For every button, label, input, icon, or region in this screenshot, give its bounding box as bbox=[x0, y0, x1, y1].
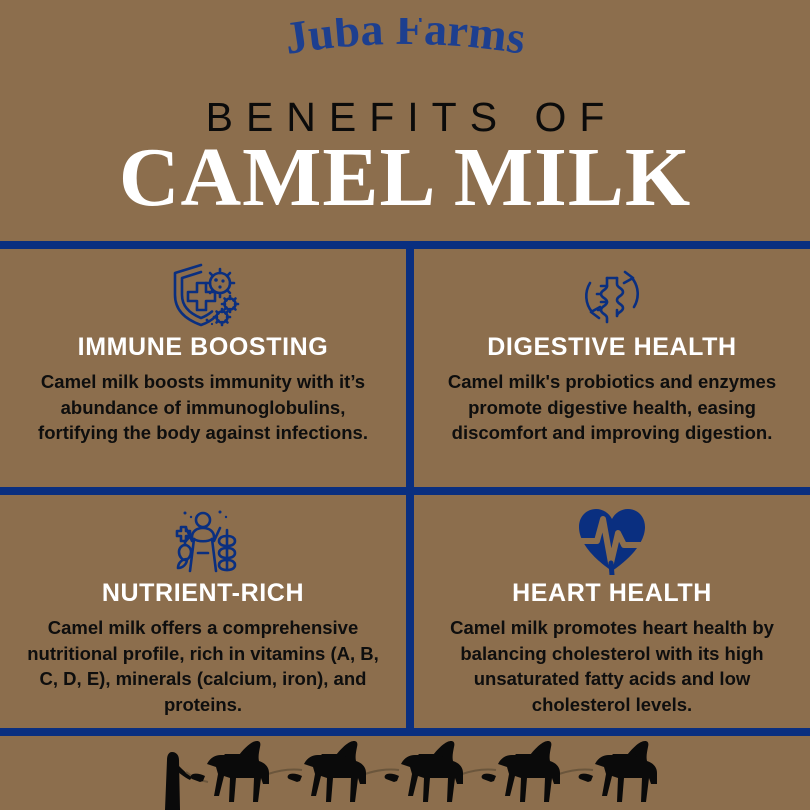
person-nutrition-icon bbox=[165, 505, 241, 577]
benefit-card-nutrient-rich: NUTRIENT-RICH Camel milk offers a compre… bbox=[0, 495, 406, 728]
heart-pulse-icon-svg bbox=[577, 507, 647, 575]
divider-vertical-2 bbox=[406, 487, 414, 736]
caravan-leader bbox=[165, 752, 192, 810]
benefit-description: Camel milk offers a comprehensive nutrit… bbox=[23, 615, 383, 717]
infographic-poster: Juba Farms BENEFITS OF CAMEL MILK bbox=[0, 0, 810, 810]
camel-3 bbox=[385, 741, 463, 802]
heart-pulse-icon bbox=[577, 505, 647, 577]
divider-top bbox=[0, 241, 810, 249]
benefit-description: Camel milk promotes heart health by bala… bbox=[432, 615, 792, 717]
brand-text: Juba Farms bbox=[281, 18, 529, 64]
intestines-cycle-icon bbox=[576, 259, 648, 331]
camel-1 bbox=[191, 741, 269, 802]
camel-2 bbox=[288, 741, 366, 802]
divider-vertical-1 bbox=[406, 241, 414, 495]
benefit-title: HEART HEALTH bbox=[512, 579, 712, 607]
divider-middle bbox=[0, 487, 810, 495]
brand-logo: Juba Farms bbox=[0, 18, 810, 96]
caravan-group bbox=[165, 741, 657, 810]
shield-virus-icon-svg bbox=[163, 261, 243, 329]
benefit-card-immune-boosting: IMMUNE BOOSTING Camel milk boosts immuni… bbox=[0, 249, 406, 487]
shield-virus-icon bbox=[163, 259, 243, 331]
intestines-cycle-icon-svg bbox=[576, 262, 648, 328]
person-nutrition-icon-svg bbox=[165, 506, 241, 576]
benefit-title: NUTRIENT-RICH bbox=[102, 579, 304, 607]
divider-bottom bbox=[0, 728, 810, 736]
page-title: CAMEL MILK bbox=[0, 135, 810, 221]
benefit-card-digestive-health: DIGESTIVE HEALTH Camel milk's probiotics… bbox=[414, 249, 810, 487]
camel-caravan-silhouette bbox=[0, 736, 810, 810]
benefit-card-heart-health: HEART HEALTH Camel milk promotes heart h… bbox=[414, 495, 810, 728]
benefit-description: Camel milk boosts immunity with it’s abu… bbox=[23, 369, 383, 446]
benefit-description: Camel milk's probiotics and enzymes prom… bbox=[432, 369, 792, 446]
brand-arc-svg: Juba Farms bbox=[135, 18, 675, 96]
camel-4 bbox=[482, 741, 560, 802]
brand-textpath: Juba Farms bbox=[281, 18, 529, 64]
camel-caravan-svg bbox=[0, 736, 810, 810]
camel-5 bbox=[579, 741, 657, 802]
benefit-title: IMMUNE BOOSTING bbox=[78, 333, 329, 361]
benefit-title: DIGESTIVE HEALTH bbox=[487, 333, 736, 361]
poster-header: Juba Farms BENEFITS OF CAMEL MILK bbox=[0, 0, 810, 241]
